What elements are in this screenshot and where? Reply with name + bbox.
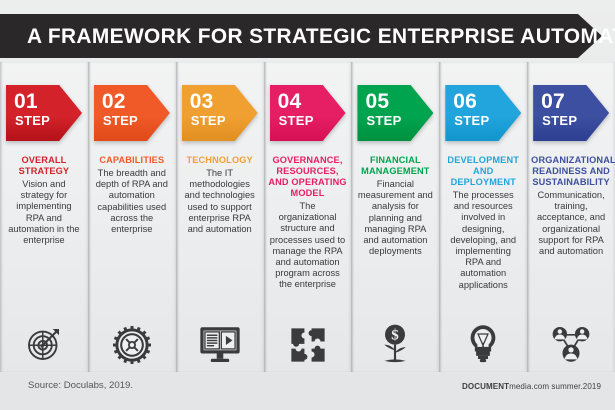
step-arrow-2: 02 STEP	[94, 85, 170, 141]
step-body-2: The breadth and depth of RPA and automat…	[92, 168, 172, 235]
step-column-7[interactable]: 07 STEP ORGANIZATIONAL READINESS AND SUS…	[527, 62, 615, 372]
step-number-2: 02	[102, 92, 126, 112]
step-word-3: STEP	[191, 114, 226, 128]
step-heading-3: TECHNOLOGY	[180, 155, 260, 166]
svg-text:$: $	[392, 328, 400, 344]
step-column-5[interactable]: 05 STEP FINANCIAL MANAGEMENT Financial m…	[351, 62, 439, 372]
step-column-2[interactable]: 02 STEP CAPABILITIES The breadth and dep…	[88, 62, 176, 372]
step-word-1: STEP	[15, 114, 50, 128]
step-heading-5: FINANCIAL MANAGEMENT	[355, 155, 435, 177]
publisher-brand: DOCUMENT	[462, 382, 509, 391]
step-arrow-7: 07 STEP	[533, 85, 609, 141]
step-column-4[interactable]: 04 STEP GOVERNANCE, RESOURCES, AND OPERA…	[264, 62, 352, 372]
step-number-3: 03	[190, 92, 214, 112]
page-title: A FRAMEWORK FOR STRATEGIC ENTERPRISE AUT…	[27, 14, 615, 58]
step-number-1: 01	[14, 92, 38, 112]
step-heading-6: DEVELOPMENT AND DEPLOYMENT	[443, 155, 523, 188]
step-text-4: GOVERNANCE, RESOURCES, AND OPERATING MOD…	[268, 155, 348, 291]
steps-container: 01 STEP OVERALL STRATEGY Vision and stra…	[0, 62, 615, 372]
footer: Source: Doculabs, 2019. DOCUMENTmedia.co…	[0, 372, 615, 410]
step-number-6: 06	[453, 92, 477, 112]
step-word-6: STEP	[454, 114, 489, 128]
step-word-7: STEP	[542, 114, 577, 128]
step-number-5: 05	[365, 92, 389, 112]
people-network-icon	[527, 318, 615, 364]
step-word-5: STEP	[366, 114, 401, 128]
step-column-3[interactable]: 03 STEP TECHNOLOGY The IT methodologies …	[176, 62, 264, 372]
step-body-5: Financial measurement and analysis for p…	[355, 179, 435, 257]
step-text-2: CAPABILITIES The breadth and depth of RP…	[92, 155, 172, 235]
target-arrow-icon	[0, 318, 88, 364]
step-text-6: DEVELOPMENT AND DEPLOYMENT The processes…	[443, 155, 523, 291]
step-word-2: STEP	[103, 114, 138, 128]
step-arrow-3: 03 STEP	[182, 85, 258, 141]
step-column-6[interactable]: 06 STEP DEVELOPMENT AND DEPLOYMENT The p…	[439, 62, 527, 372]
lightbulb-icon	[439, 318, 527, 364]
step-body-7: Communication, training, acceptance, and…	[531, 190, 611, 257]
step-column-1[interactable]: 01 STEP OVERALL STRATEGY Vision and stra…	[0, 62, 88, 372]
step-heading-4: GOVERNANCE, RESOURCES, AND OPERATING MOD…	[268, 155, 348, 199]
step-number-4: 04	[278, 92, 302, 112]
publisher-credit-rest: media.com summer.2019	[509, 382, 601, 391]
step-body-1: Vision and strategy for implementing RPA…	[4, 179, 84, 246]
step-word-4: STEP	[279, 114, 314, 128]
puzzle-pieces-icon	[264, 318, 352, 364]
step-text-1: OVERALL STRATEGY Vision and strategy for…	[4, 155, 84, 246]
step-heading-1: OVERALL STRATEGY	[4, 155, 84, 177]
step-text-7: ORGANIZATIONAL READINESS AND SUSTAINABIL…	[531, 155, 611, 257]
step-heading-2: CAPABILITIES	[92, 155, 172, 166]
step-arrow-4: 04 STEP	[270, 85, 346, 141]
infographic-root: A FRAMEWORK FOR STRATEGIC ENTERPRISE AUT…	[0, 0, 615, 410]
publisher-credit: DOCUMENTmedia.com summer.2019	[462, 382, 601, 391]
step-number-7: 07	[541, 92, 565, 112]
step-body-4: The organizational structure and process…	[268, 201, 348, 291]
step-text-3: TECHNOLOGY The IT methodologies and tech…	[180, 155, 260, 235]
step-body-6: The processes and resources involved in …	[443, 190, 523, 291]
step-heading-7: ORGANIZATIONAL READINESS AND SUSTAINABIL…	[531, 155, 611, 188]
gear-icon	[88, 318, 176, 364]
source-note: Source: Doculabs, 2019.	[28, 380, 133, 391]
step-arrow-1: 01 STEP	[6, 85, 82, 141]
step-body-3: The IT methodologies and technologies us…	[180, 168, 260, 235]
money-plant-icon: $	[351, 318, 439, 364]
header-banner: A FRAMEWORK FOR STRATEGIC ENTERPRISE AUT…	[0, 14, 604, 58]
step-arrow-6: 06 STEP	[445, 85, 521, 141]
monitor-play-icon	[176, 318, 264, 364]
step-text-5: FINANCIAL MANAGEMENT Financial measureme…	[355, 155, 435, 257]
step-arrow-5: 05 STEP	[357, 85, 433, 141]
